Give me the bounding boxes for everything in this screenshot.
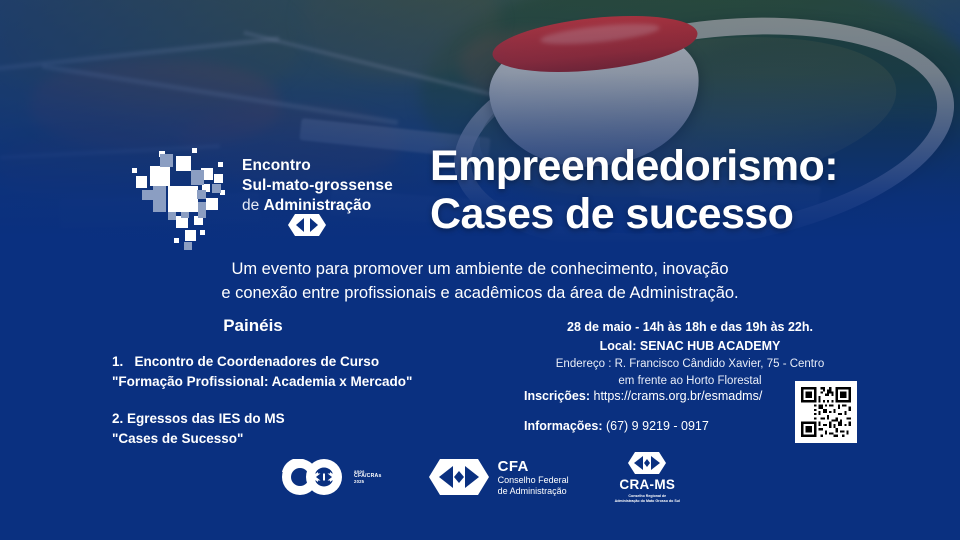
information-row: Informações: (67) 9 9219 - 0917	[524, 418, 824, 436]
registration-label: Inscrições:	[524, 389, 590, 403]
event-poster: Encontro Sul-mato-grossense de Administr…	[0, 0, 960, 540]
registration-row: Inscrições: https://crams.org.br/esmadms…	[524, 388, 824, 406]
cfa-line-2: de Administração	[498, 486, 569, 497]
cfa-acronym: CFA	[498, 458, 569, 476]
sixty-years-year: 2025	[354, 480, 382, 484]
contact-block: Inscrições: https://crams.org.br/esmadms…	[524, 388, 824, 447]
sixty-years-icon	[280, 457, 346, 497]
event-venue: Local: SENAC HUB ACADEMY	[500, 337, 880, 356]
event-date-time: 28 de maio - 14h às 18h e das 19h às 22h…	[500, 318, 880, 337]
crams-subtitle: Conselho Regional de Administração do Ma…	[615, 494, 680, 503]
cfa-line-1: Conselho Federal	[498, 475, 569, 486]
brand-line-3: de Administração	[242, 196, 393, 216]
brand-line-3-light: de	[242, 197, 264, 214]
brand-line-3-bold: Administração	[264, 197, 372, 214]
event-details: 28 de maio - 14h às 18h e das 19h às 22h…	[500, 318, 880, 390]
brand-line-1: Encontro	[242, 156, 393, 176]
brand-line-2: Sul-mato-grossense	[242, 176, 393, 196]
panel-2-title: Egressos das IES do MS	[127, 411, 285, 426]
lede-line-1: Um evento para promover um ambiente de c…	[0, 258, 960, 282]
panel-2-line-1: 2. Egressos das IES do MS	[112, 409, 472, 429]
logo-cfa: CFA Conselho Federal de Administração	[428, 458, 569, 497]
headline-line-1: Empreendedorismo:	[430, 142, 930, 190]
crams-subtitle-line-2: Administração do Mato Grosso do Sul	[615, 499, 680, 503]
panel-1-line-1: 1. Encontro de Coordenadores de Curso	[112, 352, 472, 372]
panel-list-item: 1. Encontro de Coordenadores de Curso "F…	[112, 352, 472, 391]
registration-qr-code[interactable]	[795, 381, 857, 443]
esma-brand-text: Encontro Sul-mato-grossense de Administr…	[242, 156, 393, 215]
crams-acronym: CRA-MS	[619, 477, 675, 492]
cfa-hexagon-mark	[288, 214, 326, 236]
information-phone[interactable]: (67) 9 9219 - 0917	[606, 419, 709, 433]
sixty-years-caption: anos CFA/CRAs 2025	[354, 470, 382, 484]
panels-section: Painéis 1. Encontro de Coordenadores de …	[112, 316, 472, 466]
crams-hexagon-icon	[627, 451, 667, 475]
panel-1-line-2: "Formação Profissional: Academia x Merca…	[112, 372, 472, 392]
poster-lede: Um evento para promover um ambiente de c…	[0, 258, 960, 306]
panel-1-title: Encontro de Coordenadores de Curso	[135, 354, 380, 369]
panel-list-item: 2. Egressos das IES do MS "Cases de Suce…	[112, 409, 472, 448]
poster-headline: Empreendedorismo: Cases de sucesso	[430, 142, 930, 238]
logo-crams: CRA-MS Conselho Regional de Administraçã…	[615, 451, 680, 503]
event-address-line-1: Endereço : R. Francisco Cândido Xavier, …	[500, 356, 880, 373]
logo-60-anos: anos CFA/CRAs 2025	[280, 457, 382, 497]
lede-line-2: e conexão entre profissionais e acadêmic…	[0, 282, 960, 306]
registration-url[interactable]: https://crams.org.br/esmadms/	[594, 389, 763, 403]
panel-2-number: 2.	[112, 411, 123, 426]
panel-2-line-2: "Cases de Sucesso"	[112, 429, 472, 449]
headline-line-2: Cases de sucesso	[430, 190, 930, 238]
esma-brand-lockup: Encontro Sul-mato-grossense de Administr…	[128, 146, 398, 254]
cfa-caption: CFA Conselho Federal de Administração	[498, 458, 569, 497]
esma-mosaic-mark	[128, 146, 236, 252]
qr-code-graphic	[799, 385, 853, 439]
information-label: Informações:	[524, 419, 603, 433]
panel-1-number: 1.	[112, 354, 123, 369]
footer-logo-row: anos CFA/CRAs 2025 CFA Conselho Federal …	[0, 448, 960, 506]
panels-heading: Painéis	[112, 316, 472, 336]
cfa-hexagon-icon	[428, 458, 490, 496]
